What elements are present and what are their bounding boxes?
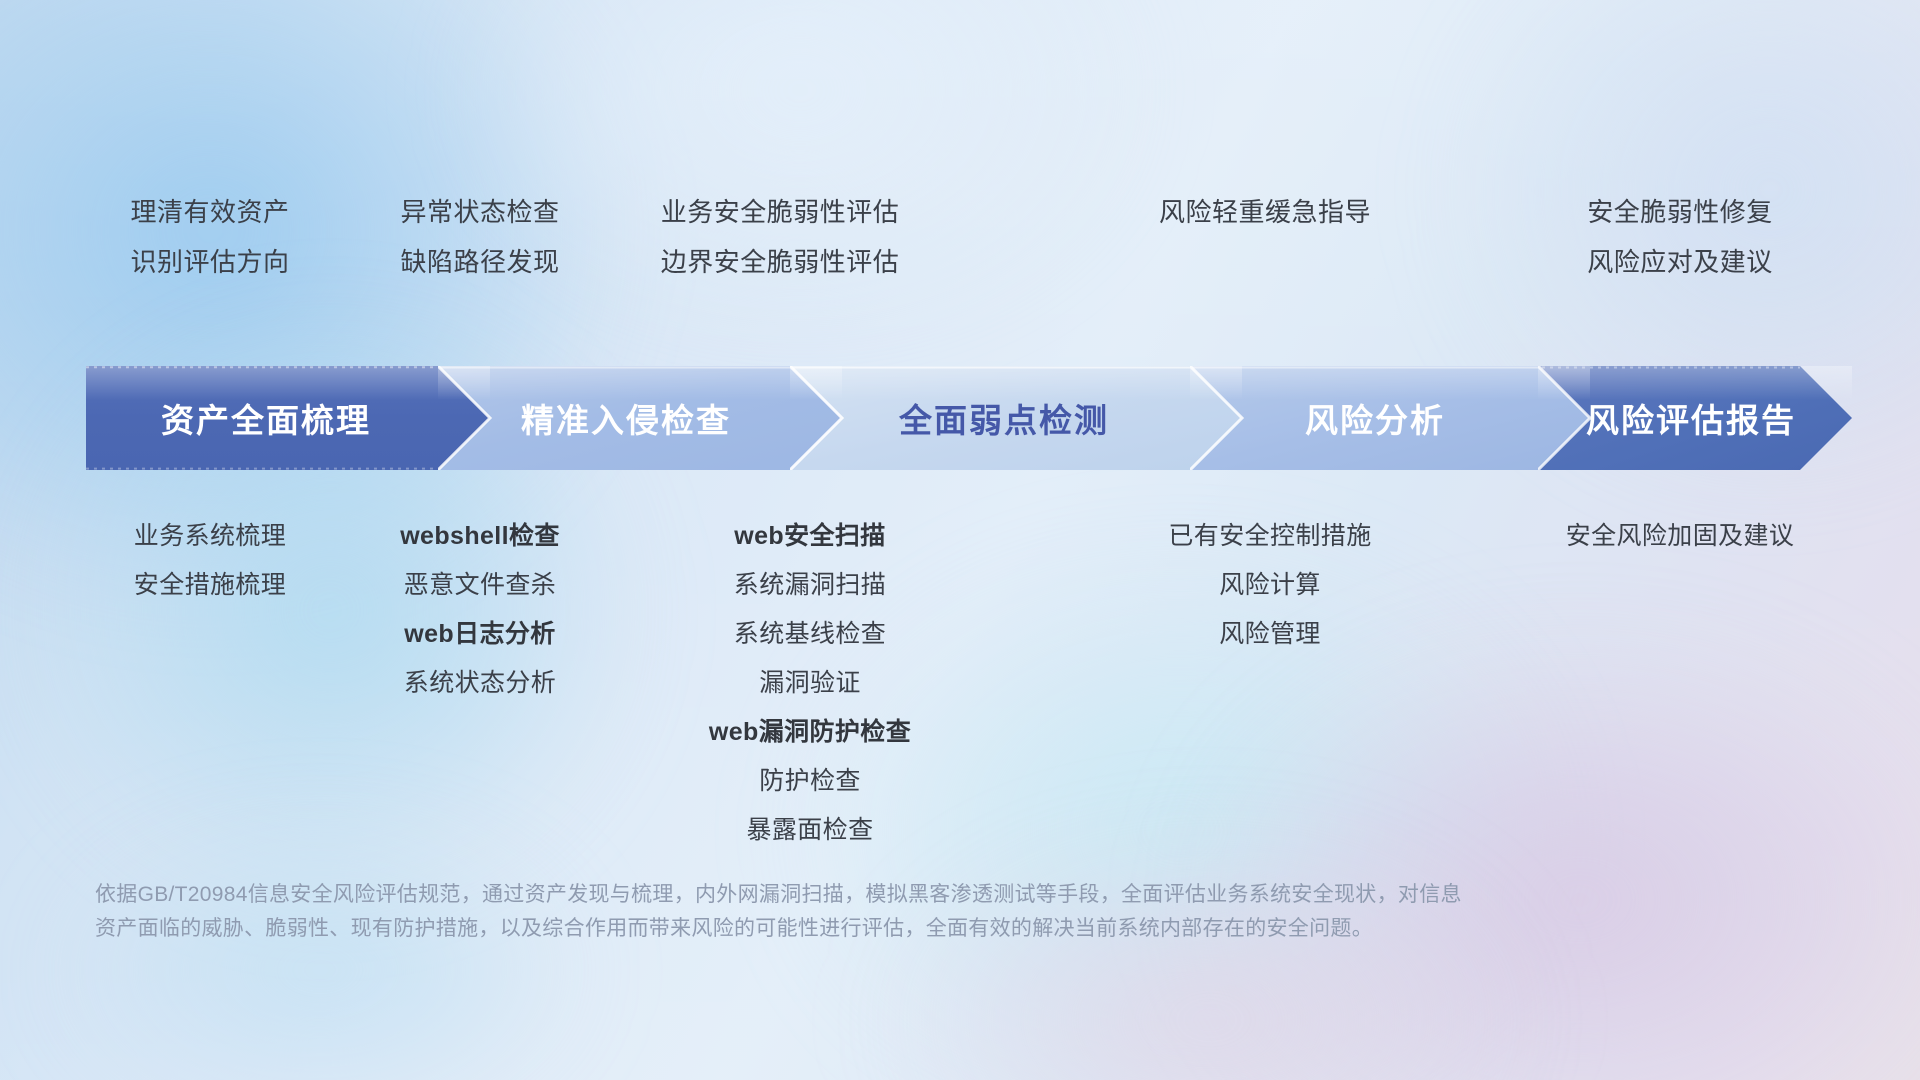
bottom-item: 防护检查 xyxy=(600,757,1020,806)
bottom-item: web漏洞防护检查 xyxy=(600,708,1020,757)
bottom-item: 安全风险加固及建议 xyxy=(1450,512,1910,561)
bottom-item: 漏洞验证 xyxy=(600,659,1020,708)
chevron-stage-3[interactable]: 全面弱点检测 xyxy=(790,366,1242,470)
chevron-stage-4[interactable]: 风险分析 xyxy=(1190,366,1590,470)
bottom-item: 系统基线检查 xyxy=(600,610,1020,659)
process-chevron-band: 资产全面梳理 精准入侵检查 xyxy=(86,366,1852,470)
chevron-label-2: 精准入侵检查 xyxy=(521,394,731,442)
bottom-item: 已有安全控制措施 xyxy=(1100,512,1440,561)
slide-canvas: 理清有效资产 识别评估方向 异常状态检查 缺陷路径发现 业务安全脆弱性评估 边界… xyxy=(0,0,1920,1080)
chevron-label-3: 全面弱点检测 xyxy=(899,394,1109,442)
chevron-label-4: 风险分析 xyxy=(1305,394,1445,442)
chevron-stage-1[interactable]: 资产全面梳理 xyxy=(86,366,490,470)
bottom-list-5: 安全风险加固及建议 xyxy=(1450,512,1910,561)
footer-description: 依据GB/T20984信息安全风险评估规范，通过资产发现与梳理，内外网漏洞扫描，… xyxy=(95,878,1615,946)
chevron-stage-2[interactable]: 精准入侵检查 xyxy=(438,366,842,470)
bottom-item: 暴露面检查 xyxy=(600,806,1020,855)
bottom-item: web安全扫描 xyxy=(600,512,1020,561)
footer-line-2: 资产面临的威胁、脆弱性、现有防护措施，以及综合作用而带来风险的可能性进行评估，全… xyxy=(95,912,1615,946)
chevron-label-1: 资产全面梳理 xyxy=(161,394,371,442)
bottom-list-4: 已有安全控制措施 风险计算 风险管理 xyxy=(1100,512,1440,659)
bottom-item: 风险计算 xyxy=(1100,561,1440,610)
bottom-item: 系统漏洞扫描 xyxy=(600,561,1020,610)
bottom-list-3: web安全扫描 系统漏洞扫描 系统基线检查 漏洞验证 web漏洞防护检查 防护检… xyxy=(600,512,1020,855)
footer-line-1: 依据GB/T20984信息安全风险评估规范，通过资产发现与梳理，内外网漏洞扫描，… xyxy=(95,878,1615,912)
chevron-stage-5[interactable]: 风险评估报告 xyxy=(1538,366,1852,470)
chevron-label-5: 风险评估报告 xyxy=(1586,394,1796,442)
bottom-item: 风险管理 xyxy=(1100,610,1440,659)
